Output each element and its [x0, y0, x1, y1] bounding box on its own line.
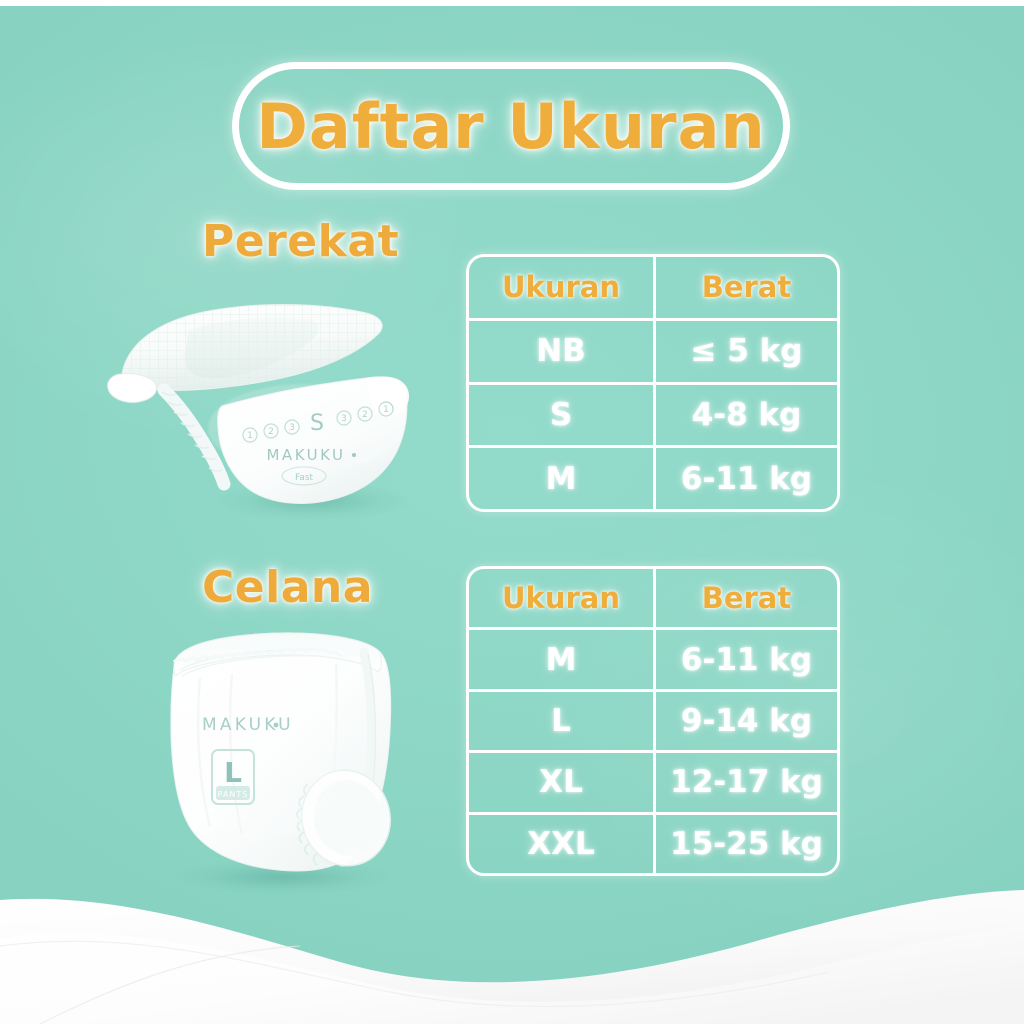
cell-weight: 6-11 kg — [653, 630, 837, 688]
cell-weight: ≤ 5 kg — [653, 321, 837, 382]
cell-size: S — [469, 385, 653, 446]
tape-diaper-image: 1 2 3 3 2 1 S MAKUKU Fast — [104, 278, 434, 528]
header-berat: Berat — [653, 569, 837, 627]
cell-size: M — [469, 448, 653, 509]
table-row: M 6-11 kg — [469, 445, 837, 509]
size-chart-page: Daftar Ukuran Perekat Celana — [0, 0, 1024, 1024]
section-label-celana: Celana — [202, 562, 373, 613]
table-header-row: Ukuran Berat — [469, 257, 837, 318]
header-berat: Berat — [653, 257, 837, 318]
bottom-wave-decoration — [0, 834, 1024, 1024]
cell-size: M — [469, 630, 653, 688]
cell-size: XL — [469, 753, 653, 811]
table-row: XL 12-17 kg — [469, 750, 837, 811]
section-label-perekat: Perekat — [202, 216, 399, 267]
table-row: L 9-14 kg — [469, 689, 837, 750]
table-row: NB ≤ 5 kg — [469, 318, 837, 382]
table-row: S 4-8 kg — [469, 382, 837, 446]
header-ukuran: Ukuran — [469, 569, 653, 627]
cell-weight: 6-11 kg — [653, 448, 837, 509]
cell-weight: 4-8 kg — [653, 385, 837, 446]
table-row: M 6-11 kg — [469, 627, 837, 688]
table-header-row: Ukuran Berat — [469, 569, 837, 627]
page-title-pill: Daftar Ukuran — [232, 62, 790, 190]
size-table-celana: Ukuran Berat M 6-11 kg L 9-14 kg XL 12-1… — [466, 566, 840, 876]
size-table-perekat: Ukuran Berat NB ≤ 5 kg S 4-8 kg M 6-11 k… — [466, 254, 840, 512]
cell-size: NB — [469, 321, 653, 382]
svg-text:Fast: Fast — [295, 473, 314, 483]
header-ukuran: Ukuran — [469, 257, 653, 318]
cell-weight: 9-14 kg — [653, 692, 837, 750]
page-title: Daftar Ukuran — [256, 90, 765, 163]
cell-size: L — [469, 692, 653, 750]
cell-weight: 12-17 kg — [653, 753, 837, 811]
